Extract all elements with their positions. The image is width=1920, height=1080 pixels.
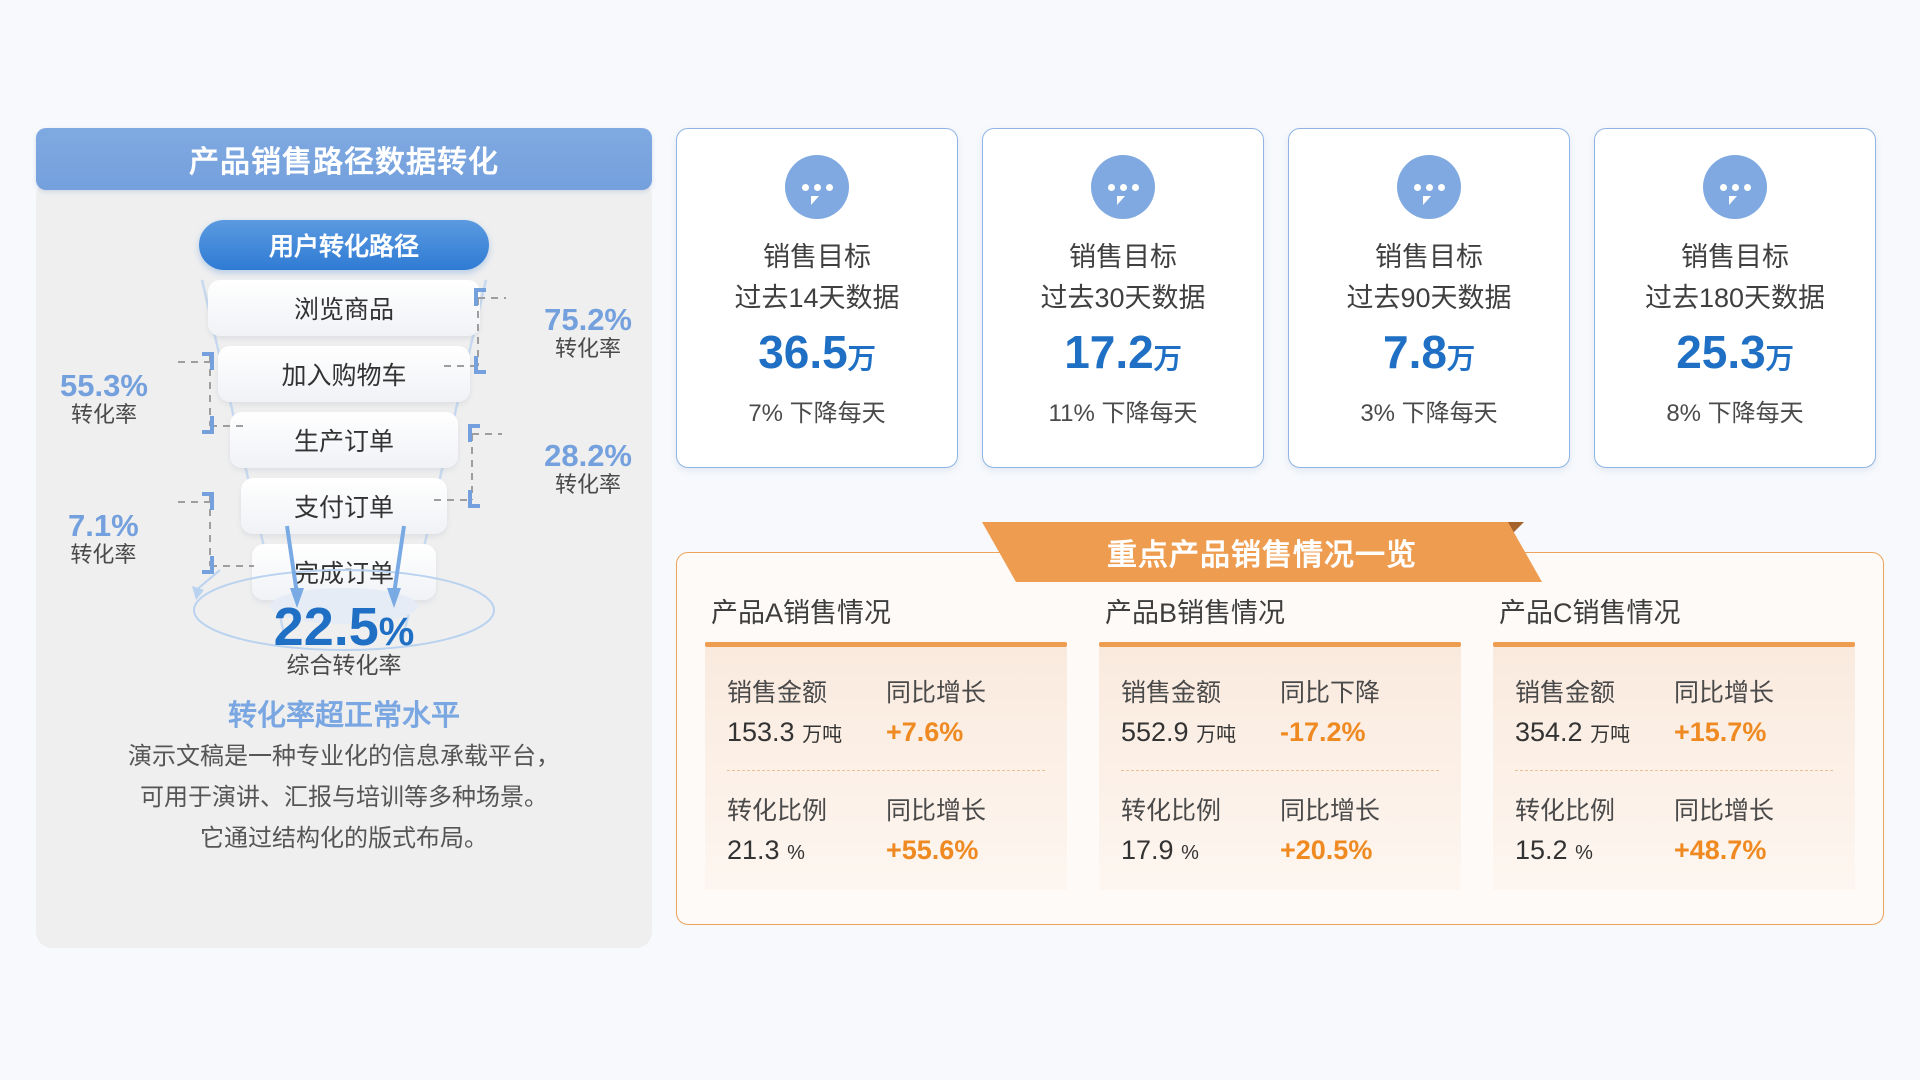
product-metrics-panel: 销售金额 354.2 万吨 同比增长 +15.7%: [1493, 647, 1855, 890]
product-section-banner-label: 重点产品销售情况一览: [1016, 522, 1508, 582]
stat-value-unit: 万: [1766, 343, 1794, 374]
product-metric-growth: 同比增长 +20.5%: [1280, 791, 1439, 866]
dashboard-canvas: 产品销售路径数据转化 用户转化路径 浏览商品 加入购物车 生产订单: [0, 0, 1920, 1080]
stat-card-label: 销售目标: [763, 235, 871, 274]
metric-number: 21.3: [727, 835, 780, 865]
product-metric-amount: 销售金额 552.9 万吨: [1121, 673, 1280, 748]
funnel-paragraph-line-3: 它通过结构化的版式布局。: [54, 822, 634, 857]
stat-card-180d[interactable]: 销售目标 过去180天数据 25.3万 8% 下降每天: [1594, 128, 1876, 468]
funnel-paragraph-line-2: 可用于演讲、汇报与培训等多种场景。: [54, 781, 634, 816]
metric-label: 同比增长: [886, 673, 1045, 709]
product-metrics-panel: 销售金额 552.9 万吨 同比下降 -17.2%: [1099, 647, 1461, 890]
stat-card-label: 销售目标: [1069, 235, 1177, 274]
chat-bubble-icon: [1703, 155, 1767, 219]
stat-value-number: 25.3: [1676, 326, 1766, 378]
product-metric-row: 转化比例 15.2 % 同比增长 +48.7%: [1515, 791, 1833, 866]
funnel-panel-title: 产品销售路径数据转化: [36, 128, 652, 190]
stat-card-90d[interactable]: 销售目标 过去90天数据 7.8万 3% 下降每天: [1288, 128, 1570, 468]
funnel-chart: 浏览商品 加入购物车 生产订单 支付订单 完成订单: [54, 274, 634, 654]
stat-card-row: 销售目标 过去14天数据 36.5万 7% 下降每天 销售目标 过去30天数据 …: [676, 128, 1876, 468]
product-metric-growth: 同比增长 +7.6%: [886, 673, 1045, 748]
metric-value: 17.9 %: [1121, 835, 1280, 866]
metric-unit: 万吨: [1196, 724, 1236, 746]
metric-unit: 万吨: [802, 724, 842, 746]
funnel-panel: 产品销售路径数据转化 用户转化路径 浏览商品 加入购物车 生产订单: [36, 128, 652, 948]
product-column-a: 产品A销售情况 销售金额 153.3 万吨 同比增长 +: [705, 591, 1067, 890]
metric-value: +7.6%: [886, 717, 1045, 748]
metric-number: 153.3: [727, 717, 795, 747]
metric-label: 同比增长: [1280, 791, 1439, 827]
product-metric-row: 转化比例 21.3 % 同比增长 +55.6%: [727, 791, 1045, 866]
metric-value: +48.7%: [1674, 835, 1833, 866]
stat-card-label: 销售目标: [1375, 235, 1483, 274]
stat-card-label: 销售目标: [1681, 235, 1789, 274]
chat-bubble-icon: [1091, 155, 1155, 219]
product-divider: [1515, 770, 1833, 771]
metric-label: 销售金额: [1121, 673, 1280, 709]
metric-value: 15.2 %: [1515, 835, 1674, 866]
metric-value: +55.6%: [886, 835, 1045, 866]
product-title: 产品B销售情况: [1099, 591, 1461, 630]
stat-value-unit: 万: [1447, 343, 1475, 374]
product-metrics-panel: 销售金额 153.3 万吨 同比增长 +7.6%: [705, 647, 1067, 890]
metric-unit: %: [1575, 842, 1593, 864]
stat-value-unit: 万: [848, 343, 876, 374]
stat-value-number: 17.2: [1064, 326, 1154, 378]
stat-card-footer: 8% 下降每天: [1666, 393, 1803, 428]
metric-value: 153.3 万吨: [727, 717, 886, 748]
product-metric-ratio: 转化比例 15.2 %: [1515, 791, 1674, 866]
stat-card-value: 7.8万: [1383, 329, 1475, 375]
product-metric-ratio: 转化比例 21.3 %: [727, 791, 886, 866]
total-conversion-value: 22.5%: [54, 600, 634, 654]
product-section: 重点产品销售情况一览 产品A销售情况 销售金额 153.3 万吨: [676, 522, 1884, 925]
metric-value: 354.2 万吨: [1515, 717, 1674, 748]
metric-number: 15.2: [1515, 835, 1568, 865]
stat-value-unit: 万: [1154, 343, 1182, 374]
metric-label: 同比增长: [886, 791, 1045, 827]
metric-unit: %: [787, 842, 805, 864]
product-metric-row: 销售金额 552.9 万吨 同比下降 -17.2%: [1121, 673, 1439, 748]
product-metric-amount: 销售金额 153.3 万吨: [727, 673, 886, 748]
funnel-path-pill: 用户转化路径: [199, 220, 489, 270]
product-column-b: 产品B销售情况 销售金额 552.9 万吨 同比下降 -: [1099, 591, 1461, 890]
product-metric-amount: 销售金额 354.2 万吨: [1515, 673, 1674, 748]
funnel-panel-body: 用户转化路径 浏览商品 加入购物车 生产订单 支付订单: [36, 180, 652, 948]
total-percent-sign: %: [379, 610, 415, 654]
stat-card-footer: 11% 下降每天: [1049, 393, 1198, 428]
total-number: 22.5: [274, 597, 379, 657]
stat-card-value: 36.5万: [758, 329, 876, 375]
product-title: 产品C销售情况: [1493, 591, 1855, 630]
metric-value: 21.3 %: [727, 835, 886, 866]
metric-number: 17.9: [1121, 835, 1174, 865]
product-card-row: 产品A销售情况 销售金额 153.3 万吨 同比增长 +: [676, 552, 1884, 925]
metric-unit: %: [1181, 842, 1199, 864]
product-title: 产品A销售情况: [705, 591, 1067, 630]
metric-label: 转化比例: [727, 791, 886, 827]
stat-card-value: 17.2万: [1064, 329, 1182, 375]
metric-value: +15.7%: [1674, 717, 1833, 748]
funnel-paragraph-line-1: 演示文稿是一种专业化的信息承载平台，: [54, 740, 634, 775]
stat-value-number: 7.8: [1383, 326, 1447, 378]
product-section-banner: 重点产品销售情况一览: [982, 522, 1542, 582]
chat-bubble-icon: [1397, 155, 1461, 219]
metric-label: 同比增长: [1674, 791, 1833, 827]
metric-label: 销售金额: [727, 673, 886, 709]
metric-number: 354.2: [1515, 717, 1583, 747]
product-metric-ratio: 转化比例 17.9 %: [1121, 791, 1280, 866]
product-metric-growth: 同比增长 +55.6%: [886, 791, 1045, 866]
product-metric-row: 销售金额 354.2 万吨 同比增长 +15.7%: [1515, 673, 1833, 748]
product-divider: [1121, 770, 1439, 771]
stat-card-footer: 3% 下降每天: [1360, 393, 1497, 428]
metric-label: 同比下降: [1280, 673, 1439, 709]
product-metric-row: 销售金额 153.3 万吨 同比增长 +7.6%: [727, 673, 1045, 748]
funnel-sub-heading: 转化率超正常水平: [54, 692, 634, 734]
total-conversion: 22.5%: [54, 600, 634, 654]
product-divider: [727, 770, 1045, 771]
stat-card-30d[interactable]: 销售目标 过去30天数据 17.2万 11% 下降每天: [982, 128, 1264, 468]
stat-card-value: 25.3万: [1676, 329, 1794, 375]
product-metric-growth: 同比增长 +48.7%: [1674, 791, 1833, 866]
metric-unit: 万吨: [1590, 724, 1630, 746]
metric-value: -17.2%: [1280, 717, 1439, 748]
chat-bubble-icon: [785, 155, 849, 219]
metric-number: 552.9: [1121, 717, 1189, 747]
metric-label: 销售金额: [1515, 673, 1674, 709]
metric-value: +20.5%: [1280, 835, 1439, 866]
product-metric-growth: 同比增长 +15.7%: [1674, 673, 1833, 748]
stat-card-14d[interactable]: 销售目标 过去14天数据 36.5万 7% 下降每天: [676, 128, 958, 468]
metric-label: 转化比例: [1515, 791, 1674, 827]
stat-card-period: 过去14天数据: [734, 276, 899, 315]
stat-card-period: 过去180天数据: [1645, 276, 1825, 315]
product-metric-growth: 同比下降 -17.2%: [1280, 673, 1439, 748]
metric-value: 552.9 万吨: [1121, 717, 1280, 748]
stat-card-period: 过去30天数据: [1040, 276, 1205, 315]
product-metric-row: 转化比例 17.9 % 同比增长 +20.5%: [1121, 791, 1439, 866]
stat-card-footer: 7% 下降每天: [748, 393, 885, 428]
stat-card-period: 过去90天数据: [1346, 276, 1511, 315]
metric-label: 转化比例: [1121, 791, 1280, 827]
metric-label: 同比增长: [1674, 673, 1833, 709]
product-column-c: 产品C销售情况 销售金额 354.2 万吨 同比增长 +: [1493, 591, 1855, 890]
stat-value-number: 36.5: [758, 326, 848, 378]
